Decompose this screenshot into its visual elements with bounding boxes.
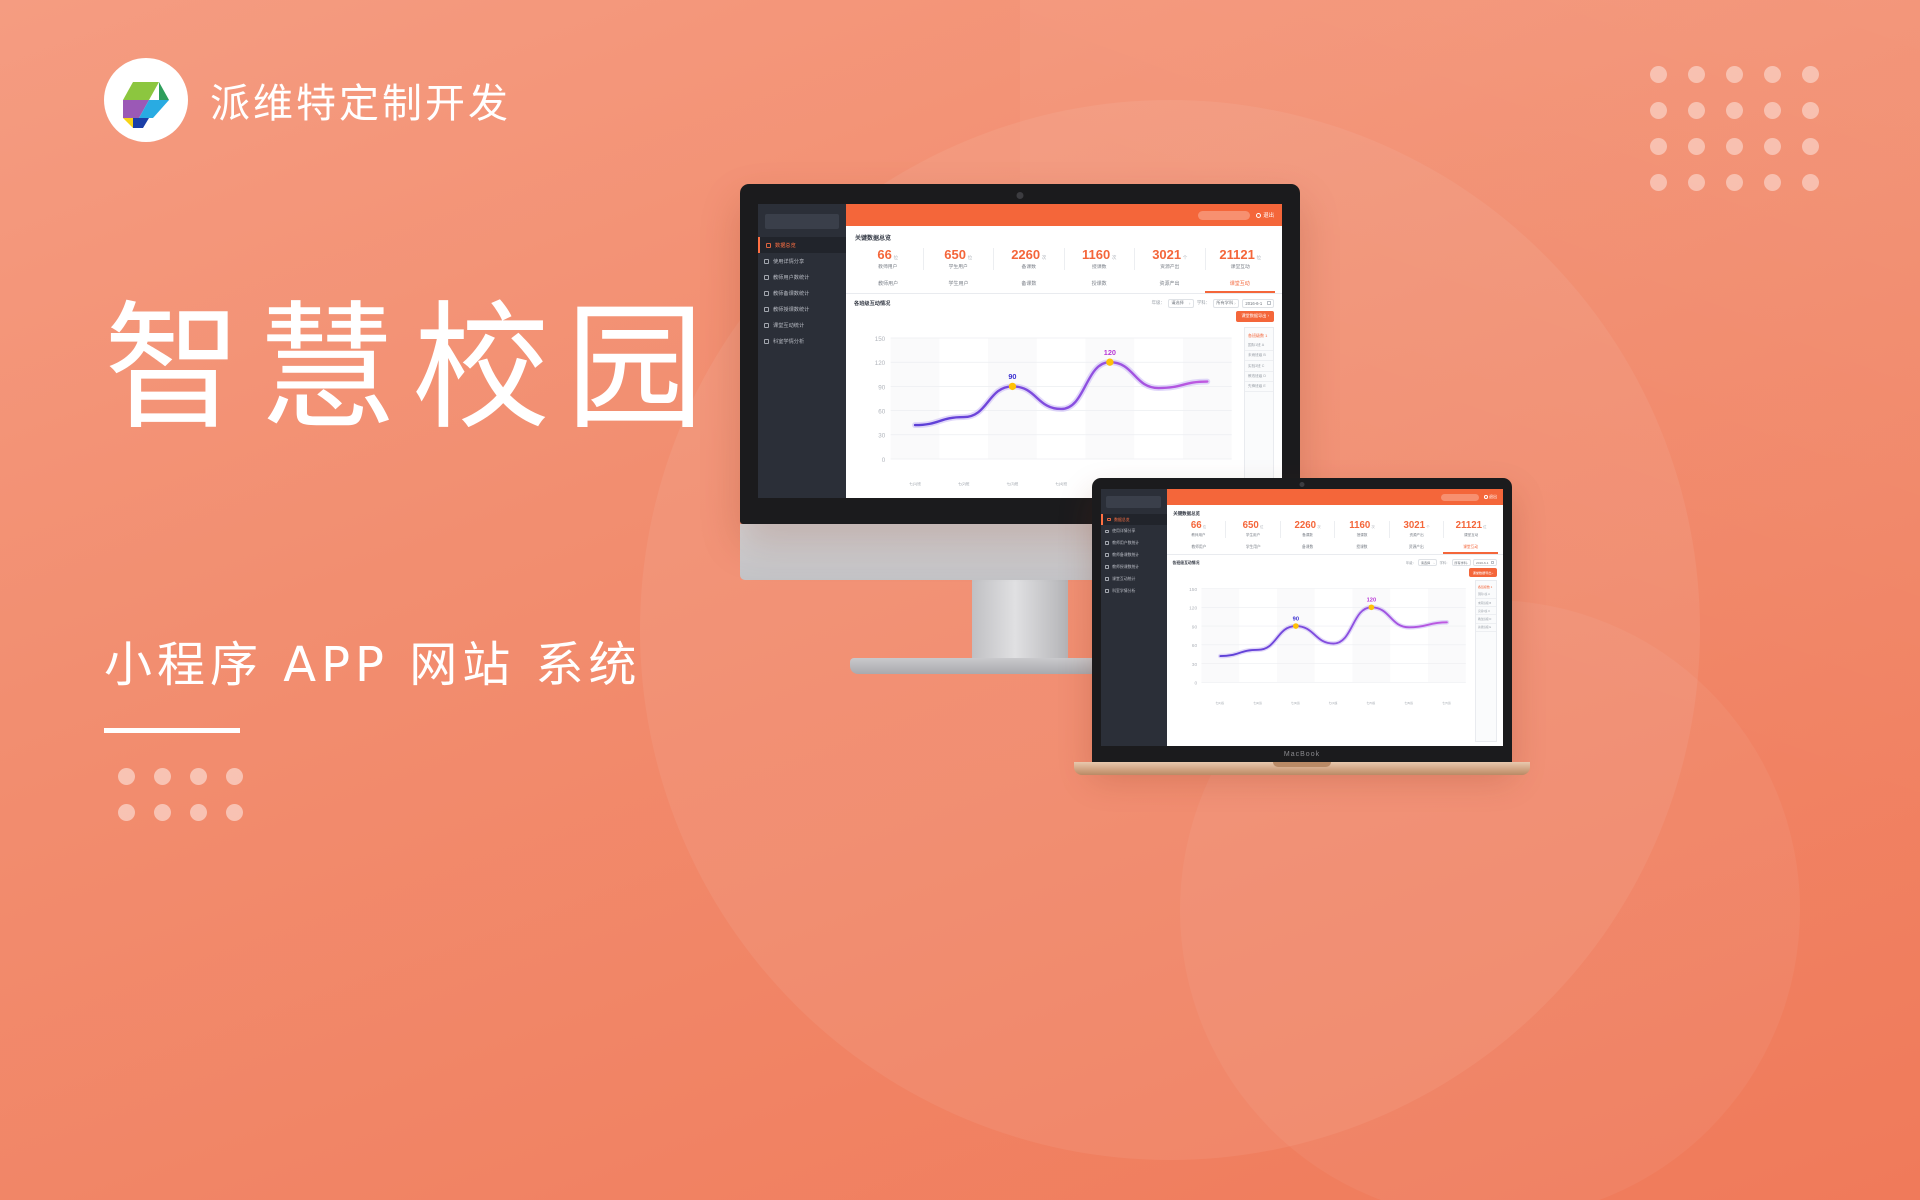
- stat-label: 备课数: [1281, 533, 1335, 538]
- legend-row-4[interactable]: 教改班级 D: [1476, 615, 1496, 623]
- export-button[interactable]: 课堂数据导出 ›: [1469, 568, 1497, 577]
- dashboard-sidebar: 数据总览使用详情分享教师用户数统计教师备课数统计教师授课数统计课堂互动统计科室学…: [1101, 489, 1167, 746]
- x-tick-1: 七(1)班: [891, 482, 940, 487]
- legend-row-3[interactable]: 实验3班 C: [1476, 607, 1496, 615]
- stat-value: 1160: [1082, 248, 1110, 261]
- tab-1[interactable]: 教师用户: [853, 276, 923, 292]
- chart-area: 030609012015090120七(1)班七(2)班七(3)班七(4)班七(…: [1173, 580, 1471, 741]
- legend-panel: 各班级数 1国际1班 A未雨班级 B实验3班 C教改班级 D先锋班级 E: [1244, 327, 1274, 492]
- svg-text:90: 90: [1292, 617, 1298, 623]
- tab-3[interactable]: 备课数: [1280, 542, 1334, 555]
- legend-row-5[interactable]: 先锋班级 E: [1245, 382, 1273, 392]
- line-chart: 030609012015090120: [854, 327, 1239, 481]
- stat-card-4: 1160次授课数: [1065, 248, 1136, 270]
- brand-name: 派维特定制开发: [210, 71, 511, 129]
- sidebar-item-2[interactable]: 使用详情分享: [1101, 525, 1167, 537]
- filter-bar: 年级：请选择›学科：所有学科›2016-6-1: [1152, 299, 1274, 308]
- chart-icon: [766, 243, 771, 248]
- webcam-icon: [1300, 482, 1305, 487]
- stat-value-group: 21121位: [1206, 248, 1276, 261]
- x-tick-3: 七(3)班: [988, 482, 1037, 487]
- tab-5[interactable]: 资源产出: [1134, 276, 1204, 292]
- decorative-dot: [1802, 102, 1819, 119]
- imac-screen: 数据总览使用详情分享教师用户数统计教师备课数统计教师授课数统计课堂互动统计科室学…: [758, 204, 1282, 498]
- sidebar-item-6[interactable]: 课堂互动统计: [1101, 573, 1167, 585]
- svg-text:90: 90: [1191, 625, 1197, 631]
- logout-button[interactable]: 退出: [1263, 211, 1274, 219]
- tab-5[interactable]: 资源产出: [1389, 542, 1443, 555]
- decorative-dot: [1726, 138, 1743, 155]
- svg-text:150: 150: [1189, 587, 1197, 593]
- tab-3[interactable]: 备课数: [994, 276, 1064, 292]
- sidebar-item-7[interactable]: 科室学情分析: [1101, 585, 1167, 597]
- x-tick-2: 七(2)班: [939, 482, 988, 487]
- sidebar-item-label: 课堂互动统计: [1112, 576, 1135, 582]
- stat-value-group: 1160次: [1335, 521, 1389, 531]
- stat-value-group: 650位: [924, 248, 994, 261]
- sidebar-item-4[interactable]: 教师备课数统计: [1101, 549, 1167, 561]
- stat-label: 教师用户: [1172, 533, 1226, 538]
- stat-card-1: 66位教师用户: [853, 248, 924, 270]
- stat-unit: 个: [1183, 255, 1188, 261]
- panel-title: 各班级互动情况: [854, 300, 890, 307]
- tab-4[interactable]: 授课数: [1064, 276, 1134, 292]
- x-tick-7: 七(7)班: [1428, 701, 1466, 705]
- x-tick-4: 七(4)班: [1314, 701, 1352, 705]
- sidebar-logo: [765, 214, 839, 229]
- legend-row-4[interactable]: 教改班级 D: [1245, 372, 1273, 382]
- sidebar-item-5[interactable]: 教师授课数统计: [758, 301, 846, 317]
- decorative-dot: [1688, 102, 1705, 119]
- stat-label: 授课数: [1335, 533, 1389, 538]
- logout-group[interactable]: 退出: [1484, 494, 1497, 500]
- tabs-row: 教师用户学生用户备课数授课数资源产出课堂互动: [1167, 542, 1503, 556]
- list-icon: [764, 307, 769, 312]
- x-tick-1: 七(1)班: [1201, 701, 1239, 705]
- svg-text:120: 120: [1366, 598, 1375, 604]
- decorative-dot: [154, 768, 171, 785]
- stat-value: 21121: [1219, 248, 1254, 261]
- decorative-dot: [190, 768, 207, 785]
- export-button[interactable]: 课堂数据导出 ›: [1236, 311, 1274, 322]
- svg-text:60: 60: [878, 408, 885, 415]
- svg-text:90: 90: [878, 384, 885, 391]
- stat-card-4: 1160次授课数: [1335, 521, 1390, 537]
- decorative-dot: [226, 768, 243, 785]
- stats-row: 66位教师用户650位学生用户2260次备课数1160次授课数3021个资源产出…: [846, 245, 1282, 276]
- x-axis-ticks: 七(1)班七(2)班七(3)班七(4)班七(5)班七(6)班七(7)班: [1201, 701, 1465, 705]
- list-icon: [764, 275, 769, 280]
- decorative-dot: [1802, 66, 1819, 83]
- svg-text:0: 0: [1194, 681, 1197, 687]
- share-icon: [764, 259, 769, 264]
- decorative-dot: [1688, 174, 1705, 191]
- sidebar-item-label: 教师授课数统计: [773, 306, 809, 313]
- stat-unit: 次: [1317, 524, 1320, 529]
- sidebar-item-1[interactable]: 数据总览: [758, 237, 846, 253]
- calendar-icon: [1267, 301, 1271, 305]
- dashboard-main: 退出关键数据总览66位教师用户650位学生用户2260次备课数1160次授课数3…: [1167, 489, 1503, 746]
- decorative-dot: [1650, 66, 1667, 83]
- sidebar-item-1[interactable]: 数据总览: [1101, 514, 1167, 526]
- grade-filter-label: 年级：: [1406, 560, 1416, 565]
- stat-unit: 次: [1042, 255, 1047, 261]
- stat-unit: 位: [1260, 524, 1263, 529]
- x-tick-6: 七(6)班: [1390, 701, 1428, 705]
- dashboard: 数据总览使用详情分享教师用户数统计教师备课数统计教师授课数统计课堂互动统计科室学…: [758, 204, 1282, 498]
- legend-panel: 各班级数 1国际1班 A未雨班级 B实验3班 C教改班级 D先锋班级 E: [1475, 580, 1497, 741]
- subject-select[interactable]: 所有学科›: [1452, 559, 1471, 566]
- stat-unit: 位: [893, 255, 898, 261]
- decorative-dot: [1764, 174, 1781, 191]
- list-icon: [764, 323, 769, 328]
- svg-text:60: 60: [1191, 644, 1197, 650]
- macbook-screen: 数据总览使用详情分享教师用户数统计教师备课数统计教师授课数统计课堂互动统计科室学…: [1101, 489, 1503, 746]
- share-icon: [1105, 530, 1109, 534]
- stat-unit: 次: [1112, 255, 1117, 261]
- stat-value-group: 3021个: [1135, 248, 1205, 261]
- logout-button[interactable]: 退出: [1489, 494, 1497, 500]
- stat-label: 课堂互动: [1206, 263, 1276, 270]
- stat-card-2: 650位学生用户: [924, 248, 995, 270]
- stat-value: 3021: [1152, 248, 1181, 261]
- stat-label: 备课数: [994, 263, 1064, 270]
- stat-card-6: 21121位课堂互动: [1206, 248, 1276, 270]
- select-value: 请选择: [1171, 300, 1184, 306]
- tab-4[interactable]: 授课数: [1335, 542, 1389, 555]
- stat-value: 650: [1243, 521, 1259, 531]
- decorative-dot: [1802, 138, 1819, 155]
- stat-unit: 位: [1483, 524, 1486, 529]
- chart-section: 030609012015090120七(1)班七(2)班七(3)班七(4)班七(…: [846, 325, 1282, 498]
- x-tick-5: 七(5)班: [1352, 701, 1390, 705]
- imac-bezel: 数据总览使用详情分享教师用户数统计教师备课数统计教师授课数统计课堂互动统计科室学…: [740, 184, 1300, 524]
- svg-text:120: 120: [1189, 606, 1197, 612]
- stat-value: 21121: [1456, 521, 1482, 531]
- stat-value: 3021: [1404, 521, 1426, 531]
- select-value: 所有学科: [1216, 300, 1233, 306]
- panel-title: 各班级互动情况: [1173, 560, 1200, 566]
- stat-card-5: 3021个资源产出: [1390, 521, 1445, 537]
- legend-row-2[interactable]: 未雨班级 B: [1245, 351, 1273, 361]
- stat-card-1: 66位教师用户: [1172, 521, 1227, 537]
- sidebar-item-4[interactable]: 教师备课数统计: [758, 285, 846, 301]
- legend-row-1[interactable]: 国际1班 A: [1476, 591, 1496, 599]
- x-tick-3: 七(3)班: [1276, 701, 1314, 705]
- stat-unit: 位: [1256, 255, 1261, 261]
- webcam-icon: [1017, 192, 1024, 199]
- stat-unit: 个: [1426, 524, 1429, 529]
- legend-row-3[interactable]: 实验3班 C: [1245, 361, 1273, 371]
- export-row: 课堂数据导出 ›: [846, 311, 1282, 325]
- tab-1[interactable]: 教师用户: [1172, 542, 1226, 555]
- decorative-dot-grid-bottom: [118, 768, 262, 840]
- decorative-dot: [190, 804, 207, 821]
- chart-section: 030609012015090120七(1)班七(2)班七(3)班七(4)班七(…: [1167, 579, 1503, 746]
- sidebar-item-label: 使用详情分享: [773, 258, 804, 265]
- decorative-dot-grid-top: [1650, 66, 1840, 210]
- stat-value-group: 1160次: [1065, 248, 1135, 261]
- grade-filter-label: 年级：: [1152, 300, 1165, 306]
- sidebar-item-label: 教师授课数统计: [1112, 564, 1139, 570]
- chart-area: 030609012015090120七(1)班七(2)班七(3)班七(4)班七(…: [854, 327, 1239, 492]
- stat-card-3: 2260次备课数: [1281, 521, 1336, 537]
- stat-card-6: 21121位课堂互动: [1444, 521, 1498, 537]
- sidebar-item-label: 教师用户数统计: [1112, 540, 1139, 546]
- decorative-dot: [118, 804, 135, 821]
- select-value: 所有学科: [1454, 560, 1466, 565]
- svg-text:90: 90: [1008, 372, 1016, 381]
- stat-value: 1160: [1349, 521, 1370, 531]
- tab-6[interactable]: 课堂互动: [1443, 542, 1497, 555]
- decorative-dot: [1650, 174, 1667, 191]
- list-icon: [1105, 541, 1109, 545]
- list-icon: [1105, 577, 1109, 581]
- stat-card-3: 2260次备课数: [994, 248, 1065, 270]
- grade-select[interactable]: 请选择›: [1168, 299, 1194, 308]
- stat-value-group: 650位: [1226, 521, 1280, 531]
- tab-6[interactable]: 课堂互动: [1205, 276, 1275, 292]
- date-value: 2016-6-1: [1476, 561, 1488, 565]
- stat-unit: 位: [1203, 524, 1206, 529]
- svg-text:30: 30: [1191, 662, 1197, 668]
- export-row: 课堂数据导出 ›: [1167, 568, 1503, 579]
- overview-title: 关键数据总览: [846, 226, 1282, 245]
- stat-value-group: 3021个: [1390, 521, 1444, 531]
- list-icon: [764, 291, 769, 296]
- panel-header: 各班级互动情况年级：请选择›学科：所有学科›2016-6-1: [846, 294, 1282, 311]
- sidebar-item-label: 科室学情分析: [773, 338, 804, 345]
- stats-row: 66位教师用户650位学生用户2260次备课数1160次授课数3021个资源产出…: [1167, 519, 1503, 542]
- dashboard-main: 退出关键数据总览66位教师用户650位学生用户2260次备课数1160次授课数3…: [846, 204, 1282, 498]
- dashboard-topbar: 退出: [846, 204, 1282, 226]
- dashboard-sidebar: 数据总览使用详情分享教师用户数统计教师备课数统计教师授课数统计课堂互动统计科室学…: [758, 204, 846, 498]
- stat-unit: 位: [968, 255, 973, 261]
- analysis-icon: [1105, 589, 1109, 593]
- brand-lockup: 派维特定制开发: [104, 58, 511, 142]
- page-title: 智慧校园: [104, 300, 720, 438]
- stat-card-5: 3021个资源产出: [1135, 248, 1206, 270]
- sidebar-item-3[interactable]: 教师用户数统计: [1101, 537, 1167, 549]
- subject-select[interactable]: 所有学科›: [1213, 299, 1239, 308]
- sidebar-item-2[interactable]: 使用详情分享: [758, 253, 846, 269]
- macbook-notch: [1273, 762, 1331, 767]
- sidebar-item-label: 科室学情分析: [1112, 588, 1135, 594]
- stat-label: 资源产出: [1390, 533, 1444, 538]
- decorative-dot: [1688, 138, 1705, 155]
- stat-unit: 次: [1371, 524, 1374, 529]
- stat-value: 66: [1191, 521, 1202, 531]
- logo-glyph: [119, 70, 173, 130]
- pivot-arrow-logo-icon: [104, 58, 188, 142]
- overview-title: 关键数据总览: [1167, 505, 1503, 518]
- filter-bar: 年级：请选择›学科：所有学科›2016-6-1: [1406, 559, 1497, 566]
- legend-row-2[interactable]: 未雨班级 B: [1476, 599, 1496, 607]
- legend-row-5[interactable]: 先锋班级 E: [1476, 624, 1496, 632]
- imac-stand-neck: [972, 580, 1068, 658]
- decorative-dot: [1764, 66, 1781, 83]
- decorative-dot: [1726, 102, 1743, 119]
- macbook-bezel: 数据总览使用详情分享教师用户数统计教师备课数统计教师授课数统计课堂互动统计科室学…: [1092, 478, 1512, 762]
- stat-label: 课堂互动: [1444, 533, 1498, 538]
- tabs-row: 教师用户学生用户备课数授课数资源产出课堂互动: [846, 276, 1282, 293]
- dashboard: 数据总览使用详情分享教师用户数统计教师备课数统计教师授课数统计课堂互动统计科室学…: [1101, 489, 1503, 746]
- page-subtitle: 小程序 APP 网站 系统: [104, 625, 642, 695]
- subject-filter-label: 学科：: [1197, 300, 1210, 306]
- laptop-device-mockup: 数据总览使用详情分享教师用户数统计教师备课数统计教师授课数统计课堂互动统计科室学…: [1092, 478, 1512, 775]
- tab-2[interactable]: 学生用户: [923, 276, 993, 292]
- decorative-dot: [1650, 138, 1667, 155]
- decorative-dot: [1764, 102, 1781, 119]
- stat-label: 教师用户: [853, 263, 923, 270]
- x-tick-2: 七(2)班: [1239, 701, 1277, 705]
- user-pill[interactable]: [1198, 211, 1250, 220]
- decorative-dot: [1650, 102, 1667, 119]
- sidebar-item-label: 使用详情分享: [1112, 528, 1135, 534]
- stat-label: 学生用户: [1226, 533, 1280, 538]
- decorative-dot: [1802, 174, 1819, 191]
- legend-row-1[interactable]: 国际1班 A: [1245, 341, 1273, 351]
- line-chart: 030609012015090120: [1173, 580, 1471, 699]
- chevron-down-icon: ›: [1189, 301, 1190, 306]
- logout-group[interactable]: 退出: [1256, 211, 1274, 219]
- sidebar-item-label: 教师备课数统计: [773, 290, 809, 297]
- stat-label: 授课数: [1065, 263, 1135, 270]
- list-icon: [1105, 565, 1109, 569]
- sidebar-item-label: 课堂互动统计: [773, 322, 804, 329]
- stat-value: 66: [877, 248, 891, 261]
- list-icon: [1105, 553, 1109, 557]
- date-range-input[interactable]: 2016-6-1: [1242, 299, 1274, 308]
- sidebar-item-label: 数据总览: [1114, 517, 1129, 523]
- legend-title: 各班级数 1: [1245, 331, 1273, 341]
- svg-text:120: 120: [875, 360, 886, 367]
- chevron-down-icon: ›: [1467, 561, 1468, 565]
- panel-header: 各班级互动情况年级：请选择›学科：所有学科›2016-6-1: [1167, 555, 1503, 568]
- stat-value: 2260: [1294, 521, 1316, 531]
- stat-label: 学生用户: [924, 263, 994, 270]
- decorative-dot: [1764, 138, 1781, 155]
- decorative-dot: [1726, 174, 1743, 191]
- svg-text:150: 150: [875, 335, 886, 342]
- stat-value: 650: [944, 248, 966, 261]
- svg-text:120: 120: [1104, 347, 1116, 356]
- stat-card-2: 650位学生用户: [1226, 521, 1281, 537]
- power-icon: [1484, 495, 1488, 499]
- chart-icon: [1107, 518, 1111, 522]
- decorative-dot: [154, 804, 171, 821]
- date-range-input[interactable]: 2016-6-1: [1473, 559, 1497, 566]
- sidebar-item-7[interactable]: 科室学情分析: [758, 333, 846, 349]
- sidebar-item-3[interactable]: 教师用户数统计: [758, 269, 846, 285]
- calendar-icon: [1491, 561, 1494, 564]
- tab-2[interactable]: 学生用户: [1226, 542, 1280, 555]
- sidebar-item-5[interactable]: 教师授课数统计: [1101, 561, 1167, 573]
- svg-text:0: 0: [882, 456, 886, 463]
- stat-value-group: 2260次: [994, 248, 1064, 261]
- analysis-icon: [764, 339, 769, 344]
- date-value: 2016-6-1: [1245, 301, 1262, 306]
- macbook-wordmark: MacBook: [1284, 751, 1320, 758]
- grade-select[interactable]: 请选择›: [1418, 559, 1437, 566]
- stat-value-group: 66位: [853, 248, 923, 261]
- svg-text:30: 30: [878, 432, 885, 439]
- power-icon: [1256, 213, 1261, 218]
- legend-title: 各班级数 1: [1476, 584, 1496, 591]
- decorative-dot: [1688, 66, 1705, 83]
- divider-rule: [104, 728, 240, 733]
- sidebar-item-label: 教师用户数统计: [773, 274, 809, 281]
- sidebar-item-6[interactable]: 课堂互动统计: [758, 317, 846, 333]
- macbook-base: [1074, 762, 1530, 775]
- dashboard-topbar: 退出: [1167, 489, 1503, 505]
- decorative-dot: [118, 768, 135, 785]
- stat-value-group: 21121位: [1444, 521, 1498, 531]
- chevron-down-icon: ›: [1234, 301, 1235, 306]
- stat-value-group: 66位: [1172, 521, 1226, 531]
- sidebar-item-label: 数据总览: [775, 242, 796, 249]
- sidebar-logo: [1106, 496, 1161, 507]
- subject-filter-label: 学科：: [1440, 560, 1450, 565]
- stat-value: 2260: [1011, 248, 1040, 261]
- sidebar-item-label: 教师备课数统计: [1112, 552, 1139, 558]
- decorative-dot: [226, 804, 243, 821]
- select-value: 请选择: [1421, 560, 1430, 565]
- chevron-down-icon: ›: [1434, 561, 1435, 565]
- decorative-dot: [1726, 66, 1743, 83]
- x-tick-4: 七(4)班: [1037, 482, 1086, 487]
- user-pill[interactable]: [1441, 494, 1480, 501]
- stat-label: 资源产出: [1135, 263, 1205, 270]
- stat-value-group: 2260次: [1281, 521, 1335, 531]
